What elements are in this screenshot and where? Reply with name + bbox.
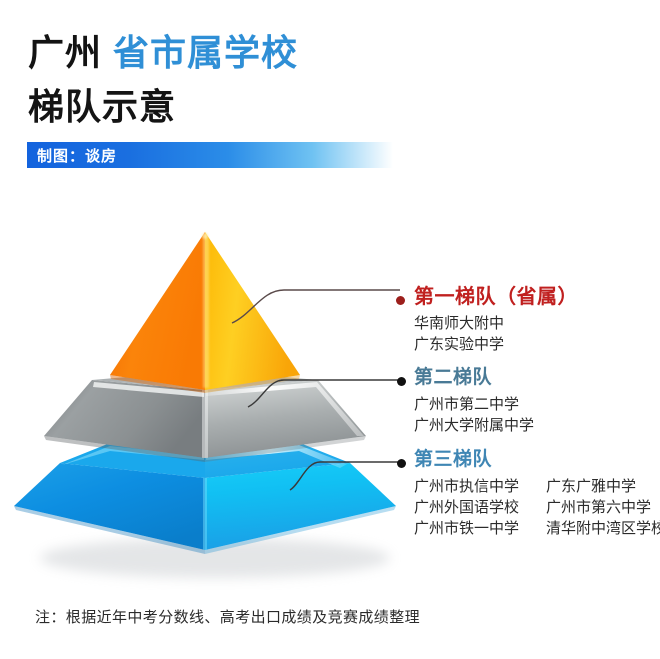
school-row: 华南师大附中 bbox=[414, 313, 578, 334]
pyramid-graphic bbox=[0, 210, 430, 590]
school-name: 广州市铁一中学 bbox=[414, 518, 546, 539]
school-row: 广州市第二中学 bbox=[414, 394, 546, 415]
school-name: 广州市第六中学 bbox=[546, 497, 651, 518]
callout-tier-1-heading: 第一梯队（省属） bbox=[414, 286, 578, 308]
school-name: 广州外国语学校 bbox=[414, 497, 546, 518]
school-name: 广州市第二中学 bbox=[414, 394, 546, 415]
page-title-line-2: 梯队示意 bbox=[28, 78, 176, 130]
callout-tier-1-schools: 华南师大附中 广东实验中学 bbox=[414, 313, 578, 356]
callout-dot-tier-3 bbox=[397, 459, 406, 468]
school-row: 广州市铁一中学清华附中湾区学校 bbox=[414, 518, 660, 539]
callout-dot-tier-1 bbox=[396, 296, 405, 305]
callout-tier-1: 第一梯队（省属） 华南师大附中 广东实验中学 bbox=[414, 286, 578, 356]
school-name: 广州市执信中学 bbox=[414, 476, 546, 497]
school-row: 广州市执信中学广东广雅中学 bbox=[414, 476, 660, 497]
title-city: 广州 bbox=[28, 32, 102, 73]
infographic-root: 广州 省市属学校 梯队示意 制图：谈房 bbox=[0, 0, 660, 659]
callout-tier-2-heading: 第二梯队 bbox=[414, 368, 546, 389]
callout-tier-2-schools: 广州市第二中学 广州大学附属中学 bbox=[414, 394, 546, 437]
callout-tier-3-heading: 第三梯队 bbox=[414, 450, 660, 471]
pyramid-figure bbox=[0, 210, 430, 590]
school-name: 华南师大附中 bbox=[414, 313, 546, 334]
credit-label: 制图：谈房 bbox=[37, 145, 117, 166]
school-row: 广东实验中学 bbox=[414, 334, 578, 355]
school-name: 广东广雅中学 bbox=[546, 476, 636, 497]
callout-tier-2: 第二梯队 广州市第二中学 广州大学附属中学 bbox=[414, 368, 546, 436]
callout-dot-tier-2 bbox=[397, 377, 406, 386]
tier-1-orange-apex bbox=[110, 232, 300, 393]
school-row: 广州外国语学校广州市第六中学 bbox=[414, 497, 660, 518]
callout-tier-3: 第三梯队 广州市执信中学广东广雅中学 广州外国语学校广州市第六中学 广州市铁一中… bbox=[414, 450, 660, 540]
callout-tier-3-schools: 广州市执信中学广东广雅中学 广州外国语学校广州市第六中学 广州市铁一中学清华附中… bbox=[414, 476, 660, 540]
school-row: 广州大学附属中学 bbox=[414, 415, 546, 436]
school-name: 广东实验中学 bbox=[414, 334, 546, 355]
school-name: 广州大学附属中学 bbox=[414, 415, 546, 436]
title-subject: 省市属学校 bbox=[113, 32, 298, 73]
school-name: 清华附中湾区学校 bbox=[546, 518, 660, 539]
footnote: 注：根据近年中考分数线、高考出口成绩及竞赛成绩整理 bbox=[35, 606, 420, 627]
page-title-line-1: 广州 省市属学校 bbox=[28, 24, 298, 76]
